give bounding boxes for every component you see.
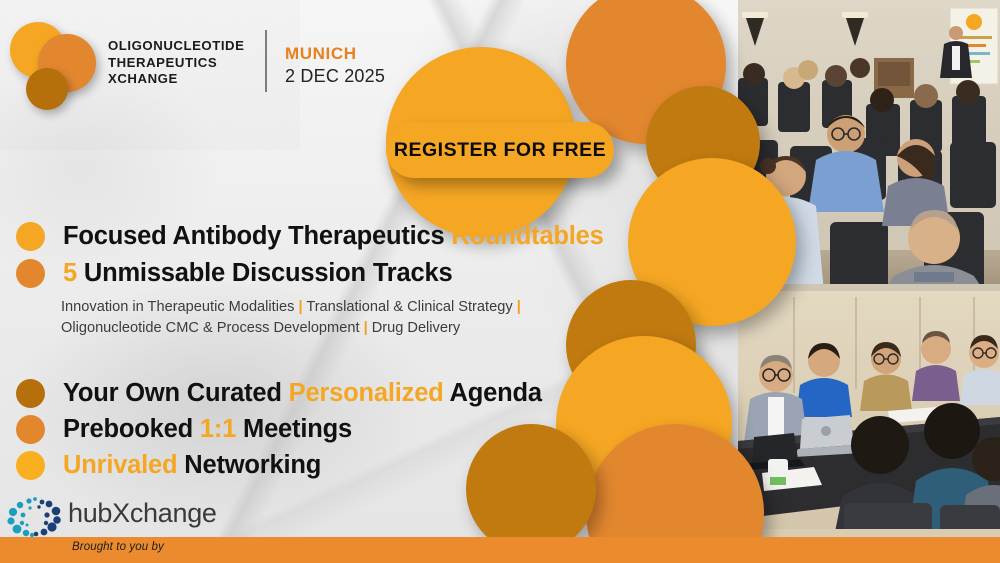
brand-line-3: XCHANGE: [108, 71, 258, 88]
highlight-text: Unrivaled Networking: [63, 451, 321, 480]
highlight-accent: Unrivaled: [63, 451, 177, 479]
primary-highlights: Focused Antibody Therapeutics Roundtable…: [16, 222, 604, 296]
highlight-row-agenda: Your Own Curated Personalized Agenda: [16, 379, 542, 408]
highlight-accent: Personalized: [289, 379, 444, 407]
track-separator: |: [517, 299, 521, 315]
event-date: 2 DEC 2025: [285, 64, 385, 88]
bullet-dot: [16, 259, 45, 288]
highlight-text: 5 Unmissable Discussion Tracks: [63, 259, 452, 288]
track-separator: |: [298, 299, 302, 315]
highlight-row-tracks: 5 Unmissable Discussion Tracks: [16, 259, 604, 288]
track-list: Innovation in Therapeutic Modalities | T…: [61, 297, 521, 339]
three-circles-logo: [8, 14, 112, 114]
event-city: MUNICH: [285, 44, 385, 64]
event-banner: OLIGONUCLEOTIDE THERAPEUTICS XCHANGE MUN…: [0, 0, 1000, 563]
track-item: Innovation in Therapeutic Modalities: [61, 299, 294, 315]
highlight-row-networking: Unrivaled Networking: [16, 451, 542, 480]
highlight-accent: Roundtables: [451, 222, 603, 250]
secondary-highlights: Your Own Curated Personalized Agenda Pre…: [16, 379, 542, 487]
bullet-dot: [16, 222, 45, 251]
highlight-text: Prebooked 1:1 Meetings: [63, 415, 352, 444]
highlight-accent: 5: [63, 259, 77, 287]
highlight-after: Agenda: [444, 379, 542, 407]
bullet-dot: [16, 451, 45, 480]
highlight-plain: Focused Antibody Therapeutics: [63, 222, 451, 250]
brand-line-1: OLIGONUCLEOTIDE: [108, 38, 258, 55]
track-item: Oligonucleotide CMC & Process Developmen…: [61, 320, 360, 336]
track-item: Drug Delivery: [372, 320, 460, 336]
highlight-row-meetings: Prebooked 1:1 Meetings: [16, 415, 542, 444]
hubxchange-wordmark: hubXchange: [68, 498, 217, 528]
highlight-before: Prebooked: [63, 415, 200, 443]
highlight-before: Your Own Curated: [63, 379, 289, 407]
hubxchange-logo: hubXchange: [6, 494, 206, 540]
header-divider: [265, 30, 267, 92]
event-location-block: MUNICH 2 DEC 2025: [285, 44, 385, 88]
roundtable-discussion-photo: [738, 291, 1000, 537]
track-line-2: Oligonucleotide CMC & Process Developmen…: [61, 318, 521, 339]
brand-line-2: THERAPEUTICS: [108, 55, 258, 72]
dot-circle-logo: [6, 494, 64, 540]
highlight-after: Meetings: [236, 415, 352, 443]
brought-to-you-by-label: Brought to you by: [72, 541, 164, 553]
register-button-label: REGISTER FOR FREE: [394, 139, 606, 162]
highlight-accent: 1:1: [200, 415, 236, 443]
brand-title: OLIGONUCLEOTIDE THERAPEUTICS XCHANGE: [108, 38, 258, 88]
track-item: Translational & Clinical Strategy: [306, 299, 512, 315]
track-line-1: Innovation in Therapeutic Modalities | T…: [61, 297, 521, 318]
bullet-dot: [16, 379, 45, 408]
highlight-row-roundtables: Focused Antibody Therapeutics Roundtable…: [16, 222, 604, 251]
bullet-dot: [16, 415, 45, 444]
highlight-plain: Unmissable Discussion Tracks: [77, 259, 452, 287]
register-for-free-button[interactable]: REGISTER FOR FREE: [386, 122, 614, 178]
highlight-text: Focused Antibody Therapeutics Roundtable…: [63, 222, 604, 251]
logo-circle-brown: [26, 68, 68, 110]
highlight-after: Networking: [177, 451, 321, 479]
track-separator: |: [364, 320, 368, 336]
highlight-text: Your Own Curated Personalized Agenda: [63, 379, 542, 408]
